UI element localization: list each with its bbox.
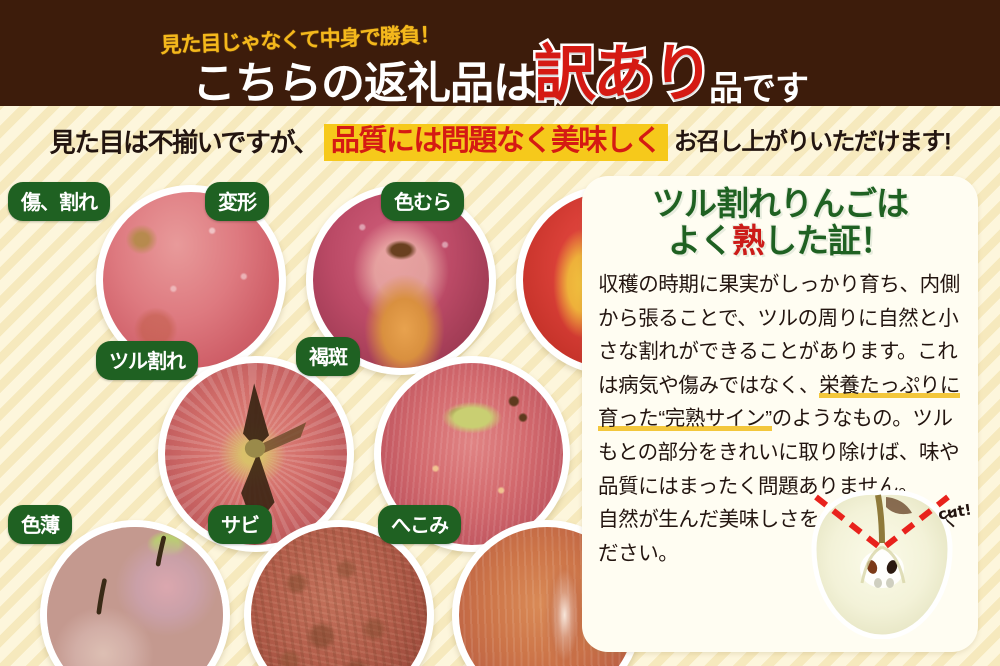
panel-title-line1: ツル割れりんごは [582, 186, 978, 223]
panel-title-line2-c: した証！ [764, 222, 892, 259]
apple-seed [874, 578, 882, 588]
badge-dent: へこみ [378, 505, 461, 544]
top-banner: 見た目じゃなくて中身で勝負！ こちらの返礼品は訳あり品です [0, 0, 1000, 106]
panel-title-line2: よく熟した証！ [582, 223, 978, 260]
panel-title-line1-text: ツル割れりんごは [652, 185, 908, 222]
cut-apple-illustration [808, 487, 956, 639]
badge-russet: サビ [208, 505, 272, 544]
poster-root: 見た目じゃなくて中身で勝負！ こちらの返礼品は訳あり品です 見た目は不揃いですが… [0, 0, 1000, 666]
photo-inner [47, 527, 223, 666]
banner-title-highlight: 訳あり [534, 40, 711, 106]
panel-title-line2-b: 熟 [732, 222, 764, 259]
apple-image-pale-color [47, 527, 223, 666]
subheadline: 見た目は不揃いですが、品質には問題なく美味しくお召し上がりいただけます! [0, 124, 1000, 161]
badge-stem-crack: ツル割れ [96, 341, 198, 380]
badge-scratch-crack: 傷、割れ [8, 182, 110, 221]
subheadline-after: お召し上がりいただけます! [674, 129, 951, 156]
panel-body-highlight2: “完熟サイン” [658, 407, 771, 431]
apple-photo-pale-color[interactable] [40, 520, 230, 666]
badge-color-unevenness: 色むら [381, 182, 464, 221]
subheadline-before: 見た目は不揃いですが、 [50, 128, 318, 158]
apple-seed [886, 578, 894, 588]
panel-title-line2-a: よく [668, 222, 732, 259]
panel-title: ツル割れりんごは よく熟した証！ [582, 186, 978, 260]
subheadline-highlight: 品質には問題なく美味しく [324, 124, 668, 161]
badge-deformed: 変形 [205, 182, 269, 221]
banner-title-part2: 品です [709, 70, 808, 106]
banner-title-part1: こちらの返礼品は [192, 59, 536, 106]
pale-apple-stems [47, 527, 223, 666]
apple-image-russet [251, 527, 427, 666]
banner-title: こちらの返礼品は訳あり品です [0, 44, 1000, 106]
photo-inner [251, 527, 427, 666]
badge-brown-spot: 褐斑 [296, 337, 360, 376]
badge-pale-color: 色薄 [8, 505, 72, 544]
